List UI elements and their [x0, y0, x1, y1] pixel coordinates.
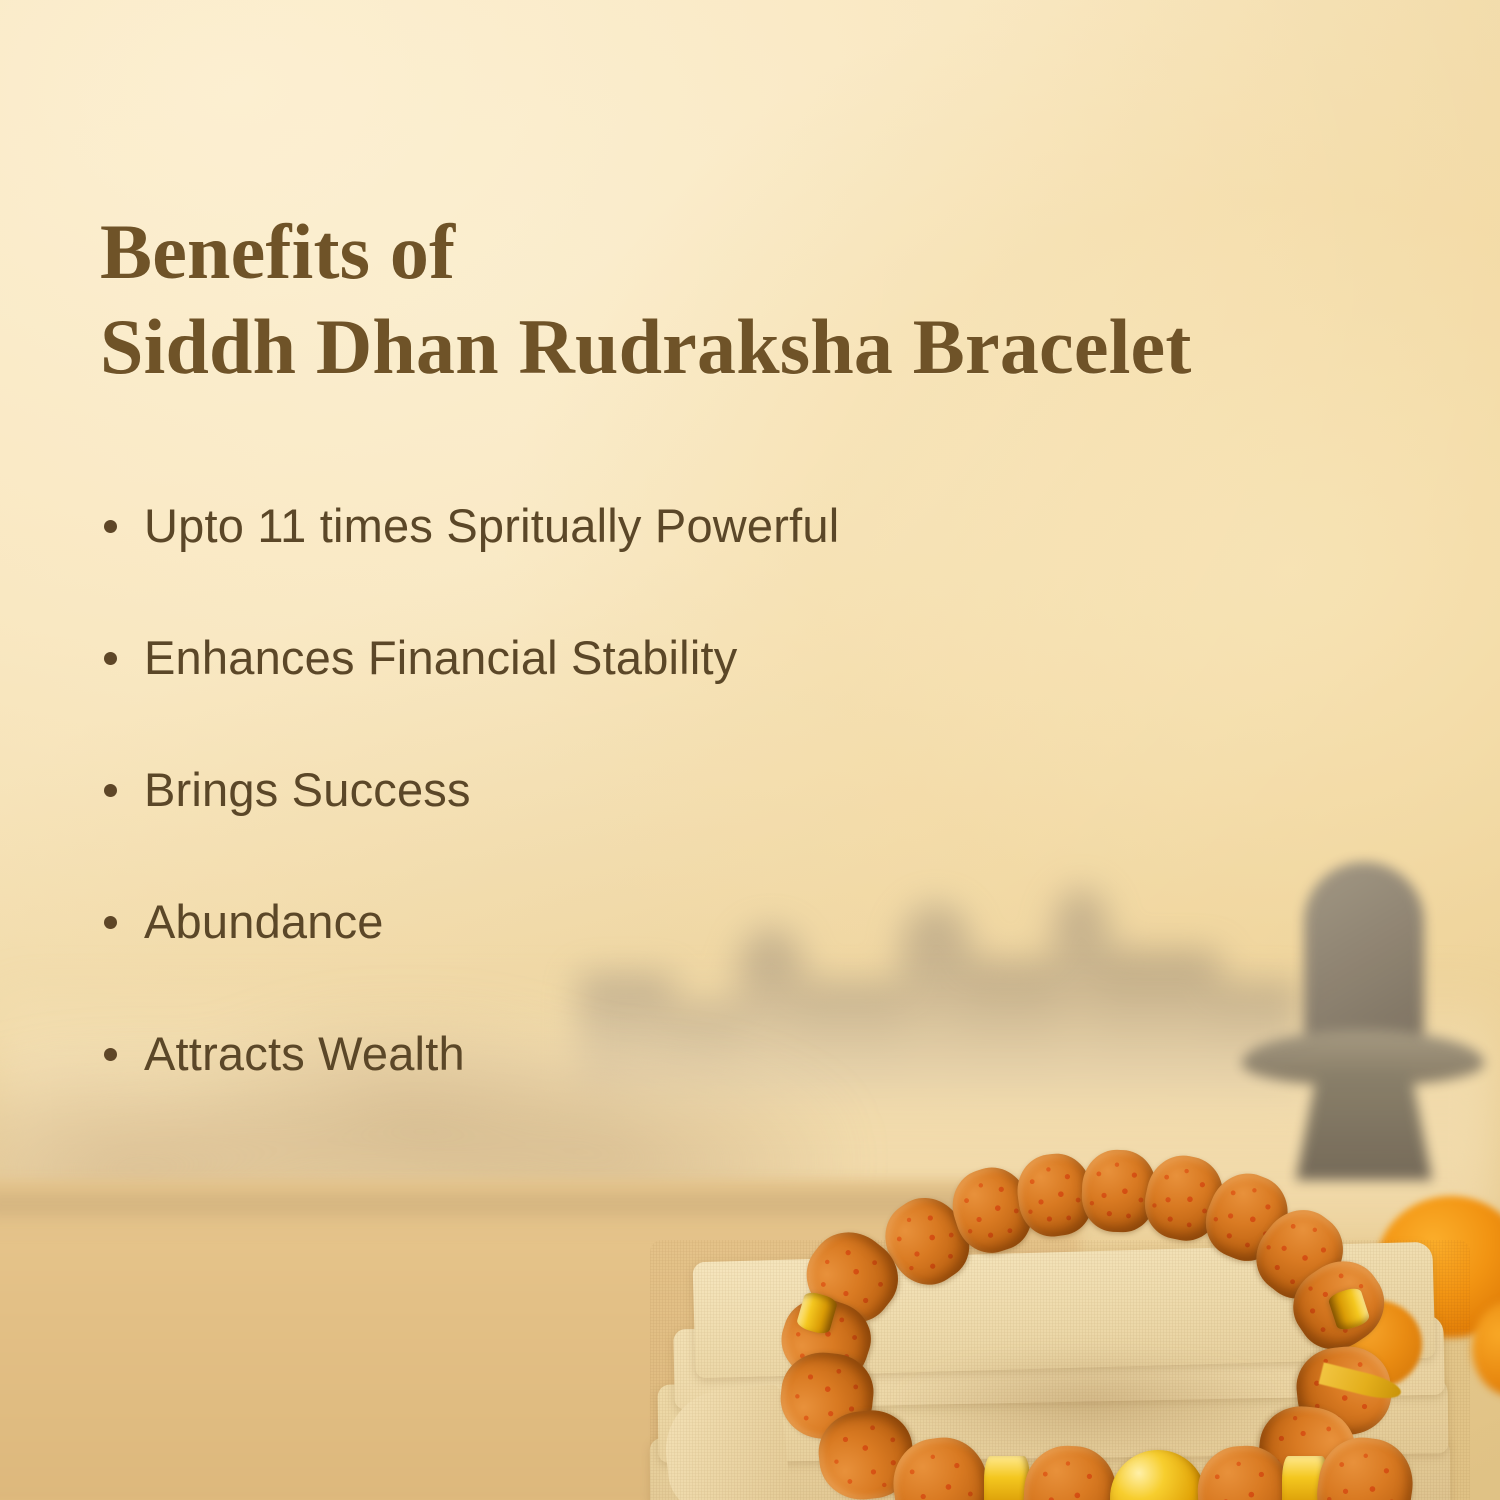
lingam-dome: [1304, 862, 1424, 1047]
page-title: Benefits of Siddh Dhan Rudraksha Bracele…: [100, 204, 1192, 394]
list-item: Enhances Financial Stability: [96, 630, 1096, 686]
list-item: Attracts Wealth: [96, 1026, 1096, 1082]
rudraksha-bracelet: [770, 1120, 1410, 1500]
benefit-label: Brings Success: [144, 762, 471, 818]
list-item: Upto 11 times Spritually Powerful: [96, 498, 1096, 554]
bullet-dot-icon: [104, 520, 117, 533]
bullet-dot-icon: [104, 916, 117, 929]
benefits-list: Upto 11 times Spritually Powerful Enhanc…: [96, 498, 1096, 1082]
list-item: Abundance: [96, 894, 1096, 950]
benefit-label: Abundance: [144, 894, 384, 950]
bullet-dot-icon: [104, 652, 117, 665]
bullet-dot-icon: [104, 1048, 117, 1061]
benefits-infographic: Benefits of Siddh Dhan Rudraksha Bracele…: [0, 0, 1500, 1500]
benefit-label: Upto 11 times Spritually Powerful: [144, 498, 839, 554]
bullet-dot-icon: [104, 784, 117, 797]
benefit-label: Enhances Financial Stability: [144, 630, 737, 686]
benefit-label: Attracts Wealth: [144, 1026, 465, 1082]
list-item: Brings Success: [96, 762, 1096, 818]
